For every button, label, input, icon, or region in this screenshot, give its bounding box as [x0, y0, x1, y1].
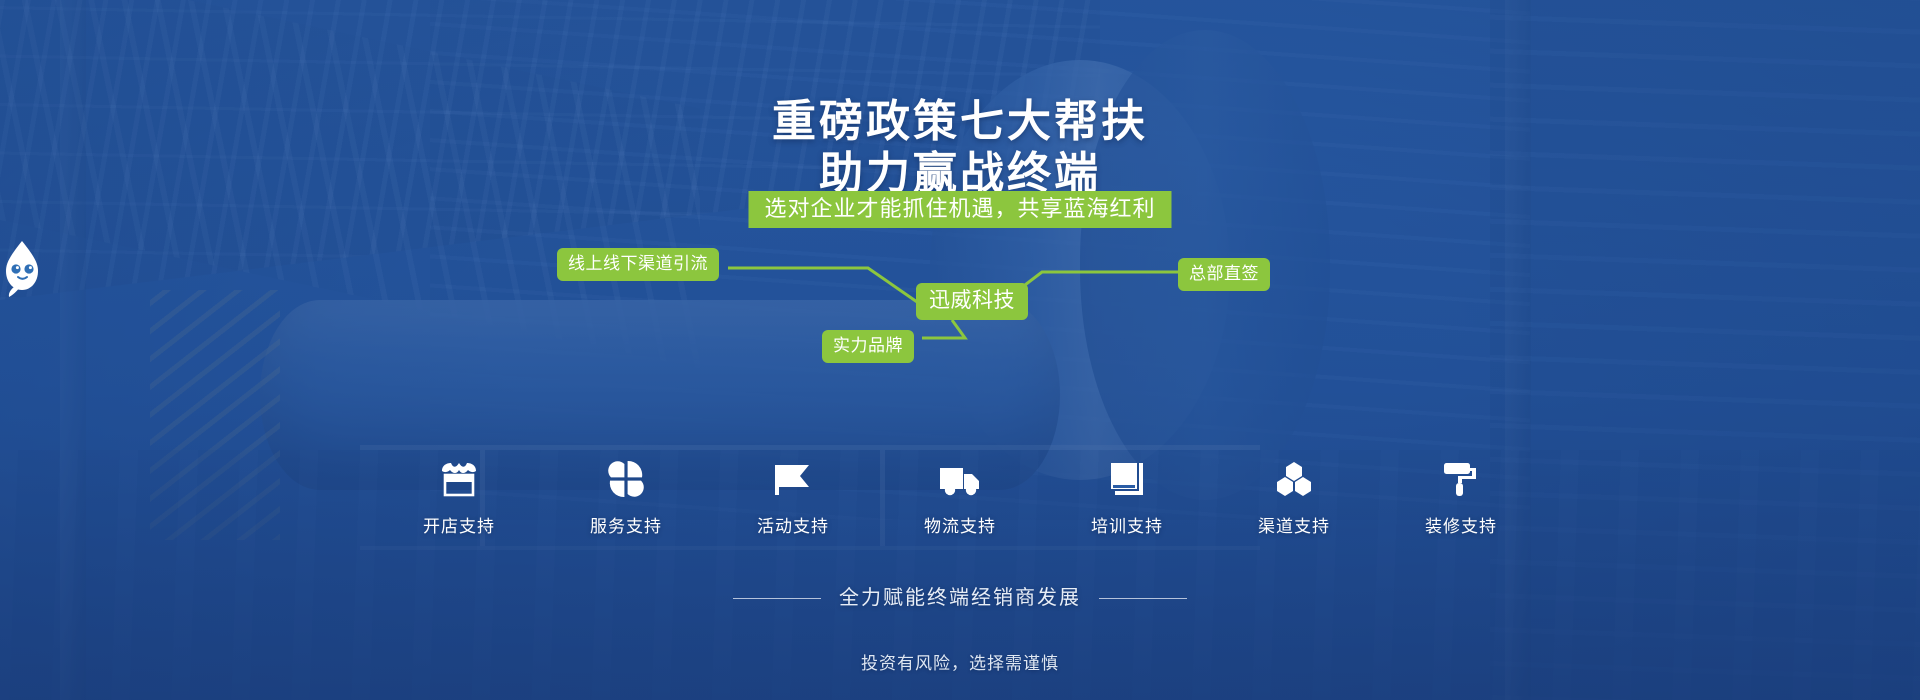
four-petal-flower-icon	[567, 455, 685, 499]
connector-bottom	[922, 320, 965, 338]
flag-icon	[734, 455, 852, 499]
support-item-activity[interactable]: 活动支持	[734, 455, 852, 537]
page-title: 重磅政策七大帮扶 助力赢战终端	[0, 96, 1920, 200]
support-label: 开店支持	[400, 517, 518, 537]
support-item-logistics[interactable]: 物流支持	[901, 455, 1019, 537]
support-label: 服务支持	[567, 517, 685, 537]
diagram-center-node[interactable]: 迅威科技	[916, 283, 1028, 320]
investment-disclaimer: 投资有风险，选择需谨慎	[0, 653, 1920, 675]
promotional-banner: 重磅政策七大帮扶 助力赢战终端 选对企业才能抓住机遇，共享蓝海红利	[0, 0, 1920, 700]
support-label: 装修支持	[1402, 517, 1520, 537]
book-icon	[1068, 455, 1186, 499]
support-items-row: 开店支持 服务支持	[400, 455, 1520, 537]
storefront-icon	[400, 455, 518, 499]
paint-roller-icon	[1402, 455, 1520, 499]
support-item-service[interactable]: 服务支持	[567, 455, 685, 537]
diagram-tag-brand[interactable]: 实力品牌	[822, 330, 914, 363]
footer-tagline: 全力赋能终端经销商发展	[839, 586, 1081, 610]
hexagon-cluster-icon	[1235, 455, 1353, 499]
diagram-tag-headquarters[interactable]: 总部直签	[1178, 258, 1270, 291]
support-label: 培训支持	[1068, 517, 1186, 537]
support-label: 活动支持	[734, 517, 852, 537]
connector-left	[728, 268, 920, 304]
support-label: 物流支持	[901, 517, 1019, 537]
subtitle-banner: 选对企业才能抓住机遇，共享蓝海红利	[748, 191, 1171, 228]
diagram-tag-channel[interactable]: 线上线下渠道引流	[557, 248, 719, 281]
truck-icon	[901, 455, 1019, 499]
support-item-decoration[interactable]: 装修支持	[1402, 455, 1520, 537]
support-item-channel[interactable]: 渠道支持	[1235, 455, 1353, 537]
support-item-training[interactable]: 培训支持	[1068, 455, 1186, 537]
headline-line-1: 重磅政策七大帮扶	[772, 97, 1148, 146]
footer-tagline-row: 全力赋能终端经销商发展	[0, 586, 1920, 610]
support-label: 渠道支持	[1235, 517, 1353, 537]
support-item-shop-opening[interactable]: 开店支持	[400, 455, 518, 537]
mascot-droplet-icon	[0, 240, 44, 298]
rule-left	[733, 598, 821, 599]
rule-right	[1099, 598, 1187, 599]
